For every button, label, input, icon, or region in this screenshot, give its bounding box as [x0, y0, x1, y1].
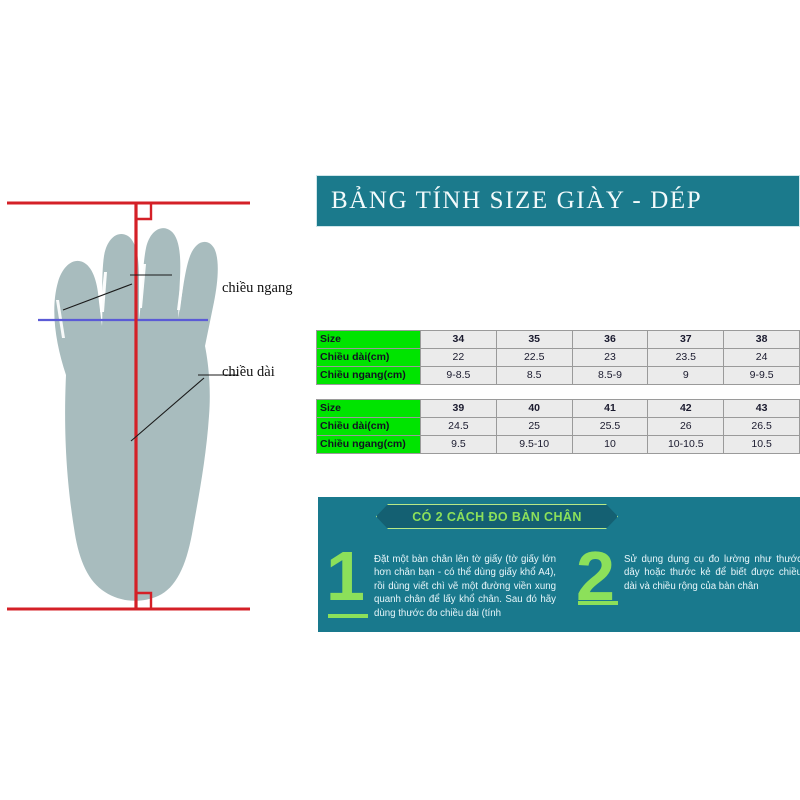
table-cell: 10 — [572, 436, 648, 454]
table-row: Size 34 35 36 37 38 — [317, 331, 800, 349]
step-2-text: Sử dụng dụng cụ đo lường như thước dây h… — [624, 545, 800, 607]
how-to-step-2: 2 Sử dụng dụng cụ đo lường như thước dây… — [576, 545, 800, 607]
size-table-34-38: Size 34 35 36 37 38 Chiều dài(cm) 22 22.… — [316, 330, 800, 385]
table-cell: 42 — [648, 400, 724, 418]
size-chart-column: BẢNG TÍNH SIZE GIÀY - DÉP Size 34 35 36 … — [316, 0, 800, 800]
foot-diagram-svg — [0, 160, 300, 640]
table-cell: 25.5 — [572, 418, 648, 436]
step-1-text: Đặt một bàn chân lên tờ giấy (tờ giấy lớ… — [374, 545, 556, 620]
table-cell: 9-9.5 — [724, 367, 800, 385]
table-cell: 24.5 — [421, 418, 497, 436]
table-cell: 10-10.5 — [648, 436, 724, 454]
step-1-number: 1 — [326, 545, 374, 607]
table-cell: 9-8.5 — [421, 367, 497, 385]
table-cell: 8.5-9 — [572, 367, 648, 385]
table-cell: 9.5-10 — [496, 436, 572, 454]
row-header-length: Chiều dài(cm) — [317, 349, 421, 367]
table-cell: 9.5 — [421, 436, 497, 454]
table-cell: 10.5 — [724, 436, 800, 454]
row-header-width: Chiều ngang(cm) — [317, 436, 421, 454]
table-cell: 22 — [421, 349, 497, 367]
how-to-step-1: 1 Đặt một bàn chân lên tờ giấy (tờ giấy … — [326, 545, 556, 620]
label-chieu-ngang: chiều ngang — [222, 280, 292, 297]
step-2-number: 2 — [576, 545, 624, 607]
table-cell: 37 — [648, 331, 724, 349]
table-cell: 22.5 — [496, 349, 572, 367]
step-2-number-wrap: 2 — [576, 545, 624, 607]
table-cell: 35 — [496, 331, 572, 349]
row-header-length: Chiều dài(cm) — [317, 418, 421, 436]
size-table-39-43: Size 39 40 41 42 43 Chiều dài(cm) 24.5 2… — [316, 399, 800, 454]
table-cell: 23 — [572, 349, 648, 367]
table-cell: 41 — [572, 400, 648, 418]
table-cell: 26.5 — [724, 418, 800, 436]
page-title: BẢNG TÍNH SIZE GIÀY - DÉP — [317, 187, 702, 215]
table-cell: 43 — [724, 400, 800, 418]
how-to-measure-panel: CÓ 2 CÁCH ĐO BÀN CHÂN 1 Đặt một bàn chân… — [318, 497, 800, 632]
row-header-width: Chiều ngang(cm) — [317, 367, 421, 385]
row-header-size: Size — [317, 400, 421, 418]
table-cell: 34 — [421, 331, 497, 349]
label-chieu-dai: chiều dài — [222, 364, 275, 381]
table-cell: 39 — [421, 400, 497, 418]
table-row: Chiều ngang(cm) 9-8.5 8.5 8.5-9 9 9-9.5 — [317, 367, 800, 385]
table-row: Size 39 40 41 42 43 — [317, 400, 800, 418]
table-cell: 25 — [496, 418, 572, 436]
table-cell: 8.5 — [496, 367, 572, 385]
table-cell: 40 — [496, 400, 572, 418]
table-row: Chiều dài(cm) 22 22.5 23 23.5 24 — [317, 349, 800, 367]
table-cell: 38 — [724, 331, 800, 349]
table-cell: 36 — [572, 331, 648, 349]
step-1-number-wrap: 1 — [326, 545, 374, 620]
step-2-number-underline — [578, 601, 618, 605]
row-header-size: Size — [317, 331, 421, 349]
how-to-banner-label: CÓ 2 CÁCH ĐO BÀN CHÂN — [412, 510, 582, 524]
table-cell: 26 — [648, 418, 724, 436]
right-angle-marker-top — [136, 203, 151, 219]
table-cell: 9 — [648, 367, 724, 385]
size-chart-title-bar: BẢNG TÍNH SIZE GIÀY - DÉP — [316, 175, 800, 227]
table-cell: 23.5 — [648, 349, 724, 367]
page-canvas: chiều ngang chiều dài BẢNG TÍNH SIZE GIÀ… — [0, 0, 800, 800]
foot-measurement-diagram: chiều ngang chiều dài — [0, 160, 300, 640]
step-1-number-underline — [328, 614, 368, 618]
table-cell: 24 — [724, 349, 800, 367]
table-row: Chiều ngang(cm) 9.5 9.5-10 10 10-10.5 10… — [317, 436, 800, 454]
table-row: Chiều dài(cm) 24.5 25 25.5 26 26.5 — [317, 418, 800, 436]
how-to-banner: CÓ 2 CÁCH ĐO BÀN CHÂN — [376, 504, 618, 529]
